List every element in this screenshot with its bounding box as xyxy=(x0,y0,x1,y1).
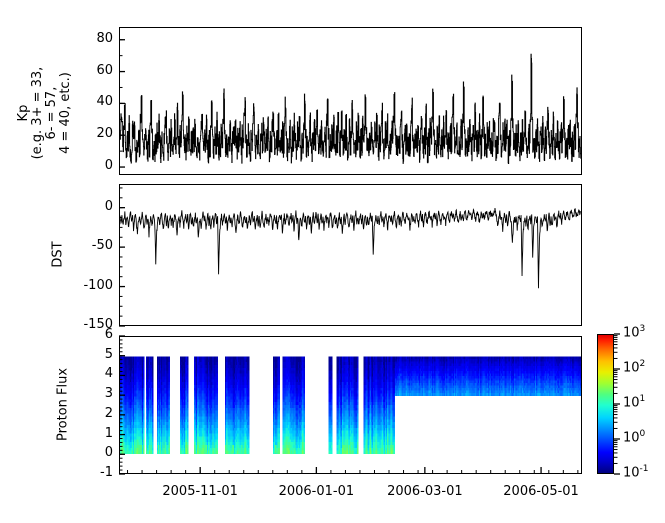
kp-axis-label: Kp (e.g. 3+ = 33, 6- = 57, 4 = 40, etc.) xyxy=(17,28,73,198)
flux-ytick-6: 5 xyxy=(105,347,113,362)
flux-label-text: Proton Flux xyxy=(56,368,71,441)
colorbar-base-3: 10 xyxy=(623,430,640,445)
colorbar-base-4: 10 xyxy=(623,465,640,480)
kp-label-line1: Kp xyxy=(17,28,31,198)
dst-label-text: DST xyxy=(51,241,66,267)
flux-ytick-3: 2 xyxy=(105,406,113,421)
panel-dst xyxy=(119,184,582,326)
flux-ytick-0: -1 xyxy=(100,465,113,480)
colorbar-base-0: 10 xyxy=(623,325,640,340)
kp-ytick-0: 0 xyxy=(105,158,113,173)
flux-ytick-1: 0 xyxy=(105,445,113,460)
colorbar-tick-label-0: 103 xyxy=(623,324,645,340)
colorbar-exponent-2: 1 xyxy=(640,394,646,404)
panel-proton-flux xyxy=(119,336,582,474)
colorbar-exponent-0: 3 xyxy=(640,324,646,334)
kp-label-line2: (e.g. 3+ = 33, xyxy=(31,28,45,198)
colorbar xyxy=(597,334,614,474)
flux-ytick-7: 6 xyxy=(105,327,113,342)
xtick-2: 2006-03-01 xyxy=(377,484,473,499)
dst-axis-label: DST xyxy=(51,225,66,285)
colorbar-gradient xyxy=(598,335,613,473)
flux-ytick-4: 3 xyxy=(105,386,113,401)
colorbar-tick-label-1: 102 xyxy=(623,359,645,375)
colorbar-tick-label-3: 100 xyxy=(623,429,645,445)
kp-label-line3: 6- = 57, xyxy=(45,28,59,198)
figure-canvas: Kp (e.g. 3+ = 33, 6- = 57, 4 = 40, etc.)… xyxy=(0,0,665,523)
colorbar-tick-label-4: 10-1 xyxy=(623,464,649,480)
colorbar-base-2: 10 xyxy=(623,395,640,410)
xtick-0: 2005-11-01 xyxy=(152,484,248,499)
dst-ytick-0: 0 xyxy=(105,199,113,214)
dst-ytick-1: -50 xyxy=(92,238,113,253)
colorbar-exponent-4: -1 xyxy=(640,464,649,474)
proton-flux-axis-label: Proton Flux xyxy=(56,350,71,460)
colorbar-base-1: 10 xyxy=(623,360,640,375)
kp-label-line4: 4 = 40, etc.) xyxy=(59,28,73,198)
colorbar-tick-label-2: 101 xyxy=(623,394,645,410)
kp-ytick-4: 80 xyxy=(96,31,113,46)
dst-ytick-2: -100 xyxy=(83,278,113,293)
xtick-3: 2006-05-01 xyxy=(493,484,589,499)
kp-ytick-1: 20 xyxy=(96,126,113,141)
flux-ytick-2: 1 xyxy=(105,426,113,441)
colorbar-exponent-1: 2 xyxy=(640,359,646,369)
flux-ytick-5: 4 xyxy=(105,366,113,381)
proton-flux-plot-area xyxy=(120,337,581,473)
colorbar-exponent-3: 0 xyxy=(640,429,646,439)
dst-plot-area xyxy=(120,185,581,325)
panel-kp xyxy=(119,27,582,175)
kp-ytick-3: 60 xyxy=(96,63,113,78)
kp-ytick-2: 40 xyxy=(96,94,113,109)
kp-plot-area xyxy=(120,28,581,174)
xtick-1: 2006-01-01 xyxy=(268,484,364,499)
